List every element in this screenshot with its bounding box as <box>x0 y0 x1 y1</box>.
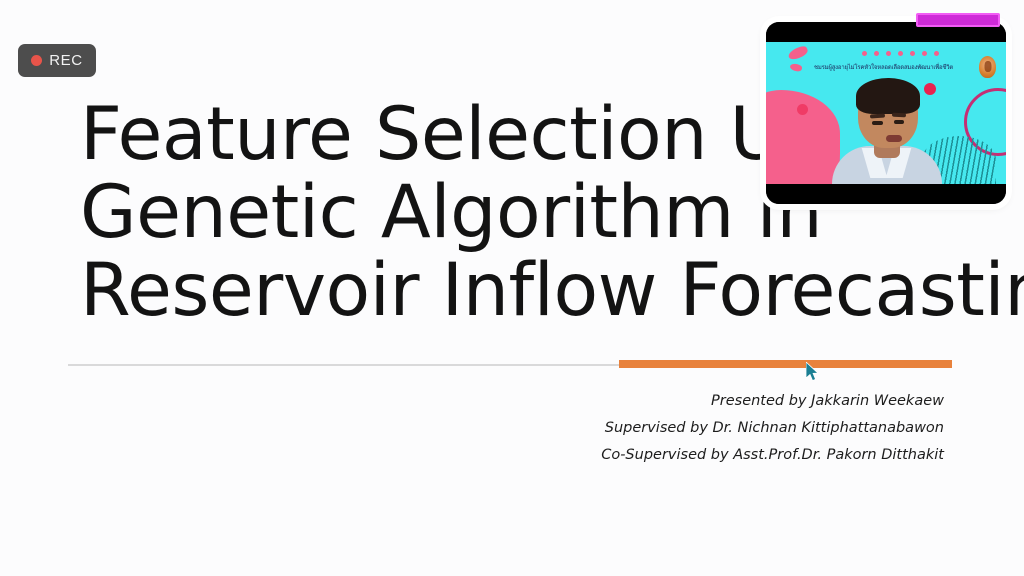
background-splash-upper <box>787 45 809 62</box>
accent-bar <box>619 360 952 368</box>
presenter-eye-left <box>872 121 883 125</box>
presenter-hair <box>856 78 920 114</box>
divider-line <box>68 364 623 366</box>
webcam-video-frame: ชมรมผู้สูงอายุไม่โรคหัวใจหลอดเลือดสมองพั… <box>766 42 1006 184</box>
background-dot-left <box>797 104 808 115</box>
presenter-eye-right <box>894 120 904 124</box>
presenter-figure <box>828 80 946 184</box>
credit-presenter: Presented by Jakkarin Weekaew <box>424 388 944 415</box>
highlight-control-bar[interactable] <box>916 13 1000 27</box>
webcam-banner-text: ชมรมผู้สูงอายุไม่โรคหัวใจหลอดเลือดสมองพั… <box>814 62 962 72</box>
presenter-mouth <box>886 135 902 142</box>
credits-block: Presented by Jakkarin Weekaew Supervised… <box>424 388 944 469</box>
organization-seal-icon <box>979 56 996 78</box>
title-line-3: Reservoir Inflow Forecasting <box>80 252 920 330</box>
background-splash-lower <box>789 62 802 72</box>
credit-supervisor: Supervised by Dr. Nichnan Kittiphattanab… <box>424 415 944 442</box>
recording-label: REC <box>49 52 82 69</box>
background-dot-row <box>862 51 939 56</box>
record-dot-icon <box>31 55 42 66</box>
credit-co-supervisor: Co-Supervised by Asst.Prof.Dr. Pakorn Di… <box>424 442 944 469</box>
webcam-letterbox-bottom <box>766 184 1006 204</box>
recording-badge: REC <box>18 44 96 77</box>
presentation-screen: REC Feature Selection Using Genetic Algo… <box>0 0 1024 576</box>
presenter-eyebrow-right <box>892 113 906 118</box>
webcam-overlay[interactable]: ชมรมผู้สูงอายุไม่โรคหัวใจหลอดเลือดสมองพั… <box>766 22 1006 204</box>
